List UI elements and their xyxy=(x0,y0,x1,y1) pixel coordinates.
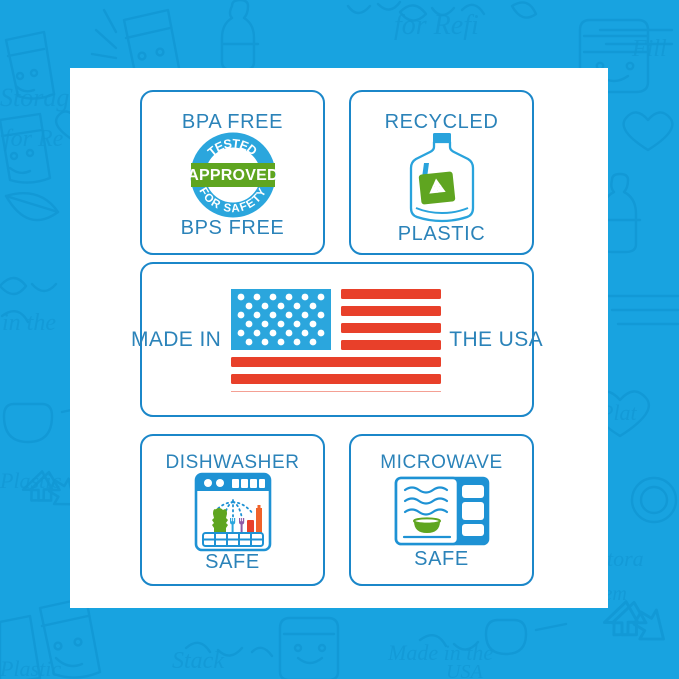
svg-text:FOR SAFETY: FOR SAFETY xyxy=(196,186,269,216)
usa-flag-art xyxy=(231,287,441,392)
panel-bpa-free[interactable]: BPA FREE TESTED FOR SAFETY APPROVED xyxy=(140,90,325,255)
milk-jug-recycle-icon xyxy=(400,132,484,224)
dishwasher-art xyxy=(194,472,272,552)
panel-bpa-title: BPA FREE xyxy=(182,112,283,132)
dishwasher-icon xyxy=(194,472,272,552)
poster-root: Storag for Re in the Plastic for Refi Fi… xyxy=(0,0,679,679)
panel-microwave-title: MICROWAVE xyxy=(380,453,503,472)
white-card: BPA FREE TESTED FOR SAFETY APPROVED xyxy=(70,68,608,608)
panel-dishwasher-footer: SAFE xyxy=(205,552,260,572)
approved-badge: TESTED FOR SAFETY APPROVED xyxy=(183,132,283,218)
svg-text:Fill: Fill xyxy=(631,36,667,62)
svg-text:Plastic: Plastic xyxy=(0,656,61,679)
usa-flag-icon xyxy=(231,287,441,392)
panel-recycled-footer: PLASTIC xyxy=(398,224,486,244)
made-in-label: MADE IN xyxy=(131,328,221,352)
panel-made-in-usa[interactable]: MADE IN xyxy=(140,262,534,417)
microwave-icon xyxy=(394,476,490,546)
panel-dishwasher-safe[interactable]: DISHWASHER xyxy=(140,434,325,586)
milk-jug-art xyxy=(400,132,484,224)
tested-approved-badge-icon: TESTED FOR SAFETY APPROVED xyxy=(183,132,283,218)
panel-microwave-safe[interactable]: MICROWAVE xyxy=(349,434,534,586)
panel-recycled-plastic[interactable]: RECYCLED xyxy=(349,90,534,255)
the-usa-label: THE USA xyxy=(449,328,543,352)
panel-recycled-title: RECYCLED xyxy=(385,112,499,132)
svg-text:Plastic: Plastic xyxy=(0,468,61,493)
svg-text:for Re: for Re xyxy=(4,126,64,152)
svg-text:APPROVED: APPROVED xyxy=(187,167,278,184)
svg-text:for Refi: for Refi xyxy=(394,10,479,41)
panel-microwave-footer: SAFE xyxy=(414,549,469,569)
svg-text:Stack: Stack xyxy=(172,648,224,674)
svg-text:USA: USA xyxy=(446,661,483,679)
panel-bpa-footer: BPS FREE xyxy=(181,218,285,238)
microwave-art xyxy=(394,472,490,549)
panel-dishwasher-title: DISHWASHER xyxy=(165,453,299,472)
svg-text:Storag: Storag xyxy=(0,83,69,112)
svg-text:in the: in the xyxy=(2,310,56,336)
